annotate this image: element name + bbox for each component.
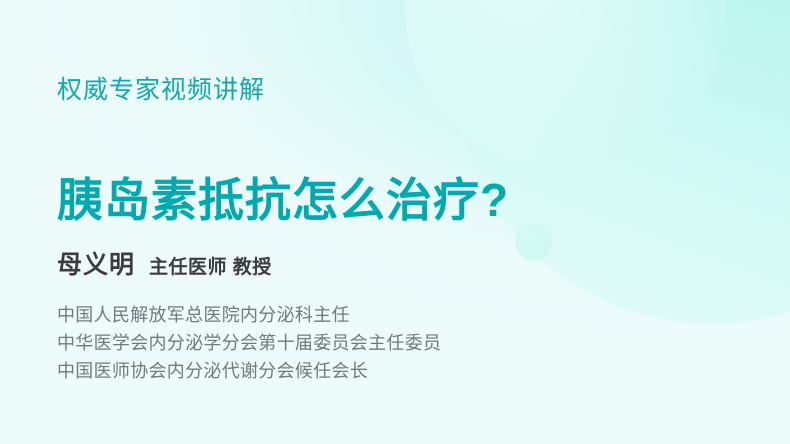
credential-line: 中华医学会内分泌学分会第十届委员会主任委员 (57, 329, 441, 357)
credential-line: 中国人民解放军总医院内分泌科主任 (57, 301, 441, 329)
speaker-title: 主任医师 教授 (149, 252, 272, 279)
credential-line: 中国医师协会内分泌代谢分会候任会长 (57, 357, 441, 385)
speaker-name: 母义明 (57, 245, 135, 281)
eyebrow-label: 权威专家视频讲解 (57, 70, 265, 106)
speaker-byline: 母义明 主任医师 教授 (57, 245, 272, 281)
page-title: 胰岛素抵抗怎么治疗? (57, 175, 509, 226)
video-lecture-title-card: 权威专家视频讲解 胰岛素抵抗怎么治疗? 母义明 主任医师 教授 中国人民解放军总… (0, 0, 790, 444)
card-content: 权威专家视频讲解 胰岛素抵抗怎么治疗? 母义明 主任医师 教授 中国人民解放军总… (57, 0, 790, 444)
speaker-credentials: 中国人民解放军总医院内分泌科主任 中华医学会内分泌学分会第十届委员会主任委员 中… (57, 301, 441, 385)
